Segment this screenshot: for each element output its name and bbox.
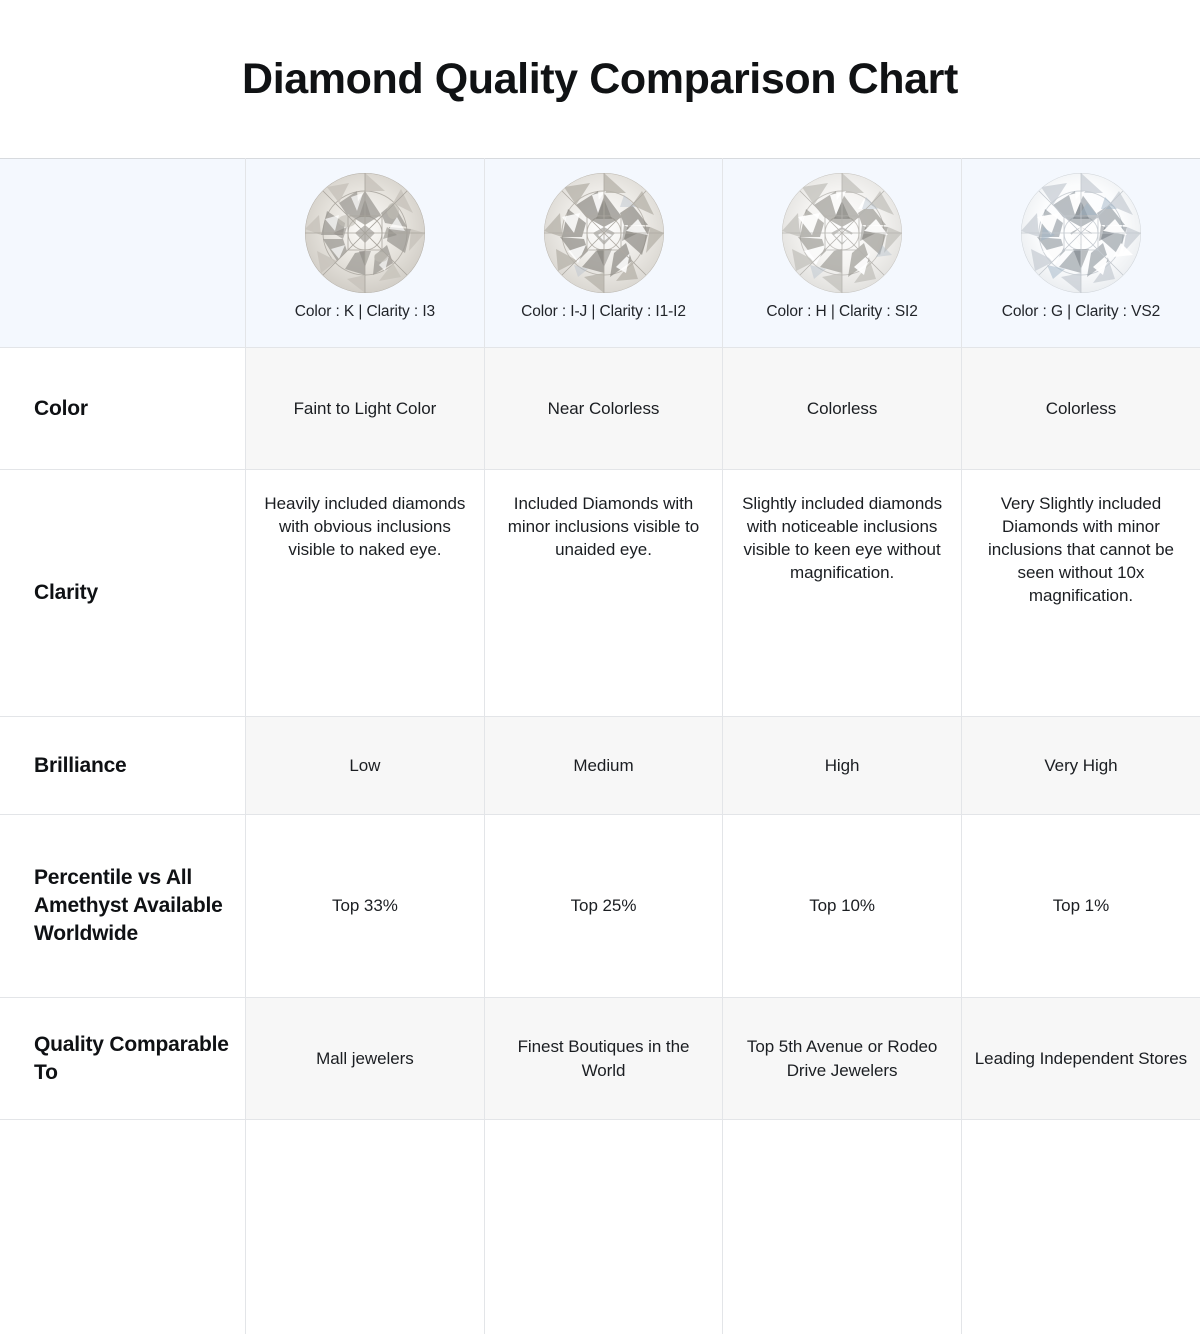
diamond-comparison-page: Diamond Quality Comparison Chart xyxy=(0,0,1200,1200)
table-row: Color Faint to Light Color Near Colorles… xyxy=(0,348,1200,470)
diamond-spec-column-4: Color : G | Clarity : VS2 xyxy=(961,159,1200,348)
cell-percentile-3: Top 10% xyxy=(723,815,962,998)
round-brilliant-diamond-icon xyxy=(1017,169,1145,297)
round-brilliant-diamond-icon xyxy=(778,169,906,297)
table-row: Percentile vs All Amethyst Available Wor… xyxy=(0,815,1200,998)
cell-empty-2 xyxy=(484,1120,723,1334)
cell-clarity-2: Included Diamonds with minor inclusions … xyxy=(484,470,723,717)
cell-empty-4 xyxy=(961,1120,1200,1334)
row-label-brilliance: Brilliance xyxy=(0,717,246,815)
row-label-color: Color xyxy=(0,348,246,470)
cell-brilliance-2: Medium xyxy=(484,717,723,815)
table-row: Clarity Heavily included diamonds with o… xyxy=(0,470,1200,717)
cell-percentile-4: Top 1% xyxy=(961,815,1200,998)
cell-percentile-1: Top 33% xyxy=(246,815,485,998)
row-label-quality: Quality Comparable To xyxy=(0,998,246,1120)
header-corner-cell xyxy=(0,159,246,348)
diamond-comparison-table: Color : K | Clarity : I3 xyxy=(0,158,1200,1334)
cell-color-4: Colorless xyxy=(961,348,1200,470)
cell-empty-3 xyxy=(723,1120,962,1334)
cell-color-3: Colorless xyxy=(723,348,962,470)
cell-color-1: Faint to Light Color xyxy=(246,348,485,470)
cell-quality-1: Mall jewelers xyxy=(246,998,485,1120)
cell-quality-3: Top 5th Avenue or Rodeo Drive Jewelers xyxy=(723,998,962,1120)
cell-percentile-2: Top 25% xyxy=(484,815,723,998)
diamond-spec-column-2: Color : I-J | Clarity : I1-I2 xyxy=(484,159,723,348)
cell-empty-1 xyxy=(246,1120,485,1334)
cell-quality-4: Leading Independent Stores xyxy=(961,998,1200,1120)
table-header-row: Color : K | Clarity : I3 xyxy=(0,159,1200,348)
cell-color-2: Near Colorless xyxy=(484,348,723,470)
page-title: Diamond Quality Comparison Chart xyxy=(242,58,958,101)
cell-clarity-3: Slightly included diamonds with noticeab… xyxy=(723,470,962,717)
title-container: Diamond Quality Comparison Chart xyxy=(0,0,1200,158)
cell-brilliance-4: Very High xyxy=(961,717,1200,815)
round-brilliant-diamond-icon xyxy=(540,169,668,297)
row-label-clarity: Clarity xyxy=(0,470,246,717)
cell-quality-2: Finest Boutiques in the World xyxy=(484,998,723,1120)
diamond-spec-caption: Color : K | Clarity : I3 xyxy=(295,303,435,321)
table-row: Brilliance Low Medium High Very High xyxy=(0,717,1200,815)
row-label-empty xyxy=(0,1120,246,1334)
round-brilliant-diamond-icon xyxy=(301,169,429,297)
diamond-spec-column-3: Color : H | Clarity : SI2 xyxy=(723,159,962,348)
diamond-spec-caption: Color : H | Clarity : SI2 xyxy=(766,303,917,321)
row-label-percentile: Percentile vs All Amethyst Available Wor… xyxy=(0,815,246,998)
cell-clarity-4: Very Slightly included Diamonds with min… xyxy=(961,470,1200,717)
diamond-spec-caption: Color : G | Clarity : VS2 xyxy=(1002,303,1160,321)
cell-clarity-1: Heavily included diamonds with obvious i… xyxy=(246,470,485,717)
diamond-spec-column-1: Color : K | Clarity : I3 xyxy=(246,159,485,348)
table-row-empty xyxy=(0,1120,1200,1334)
diamond-spec-caption: Color : I-J | Clarity : I1-I2 xyxy=(521,303,686,321)
cell-brilliance-3: High xyxy=(723,717,962,815)
table-row: Quality Comparable To Mall jewelers Fine… xyxy=(0,998,1200,1120)
cell-brilliance-1: Low xyxy=(246,717,485,815)
